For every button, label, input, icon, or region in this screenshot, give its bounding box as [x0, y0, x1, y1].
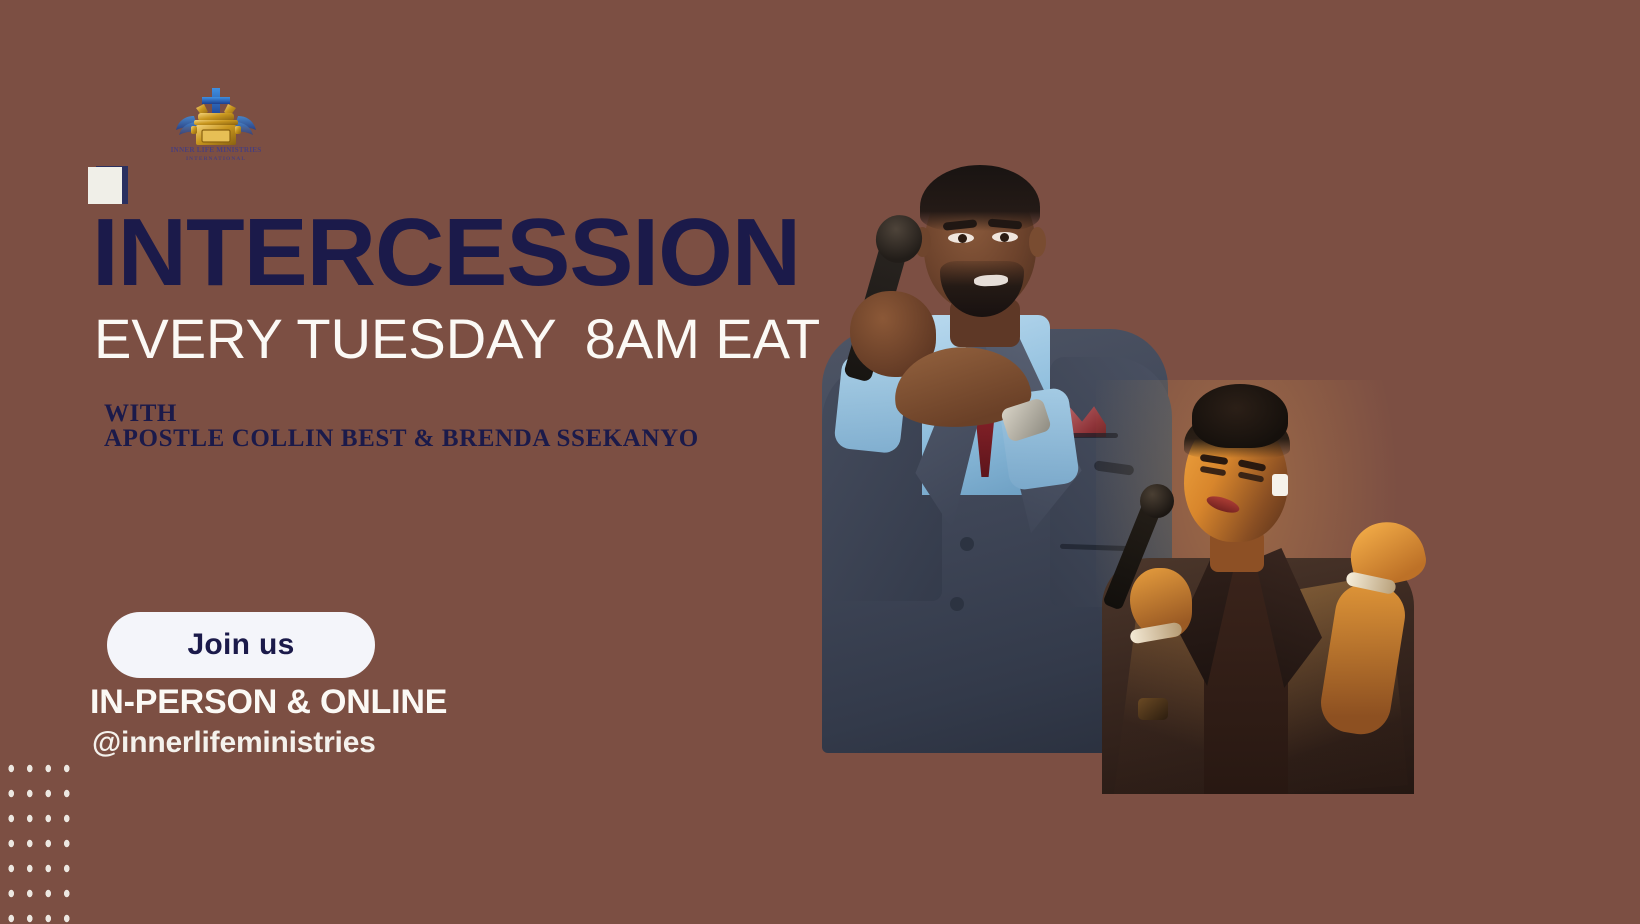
page-title: INTERCESSION	[92, 205, 800, 301]
suit-button-upper	[960, 537, 974, 551]
photo-collage	[740, 0, 1640, 924]
schedule-day: EVERY TUESDAY	[94, 307, 557, 370]
dot-grid-decoration	[0, 752, 76, 924]
hair-bun	[1192, 384, 1288, 448]
microphone-head	[1140, 484, 1174, 518]
logo-name-text: INNER LIFE MINISTRIES	[166, 146, 266, 154]
eye-left	[948, 233, 974, 243]
schedule-line: EVERY TUESDAY8AM EAT	[94, 311, 820, 367]
logo-subtitle-text: INTERNATIONAL	[166, 156, 266, 162]
photo-brenda-ssekanyo	[1096, 380, 1420, 794]
social-handle: @innerlifeministries	[92, 726, 376, 760]
suit-button-lower	[950, 597, 964, 611]
eye-right	[992, 232, 1018, 242]
wristwatch	[1138, 698, 1168, 720]
speaker-names: APOSTLE COLLIN BEST & BRENDA SSEKANYO	[104, 425, 699, 453]
intercession-poster: INNER LIFE MINISTRIES INTERNATIONAL INTE…	[0, 0, 1640, 924]
hair	[920, 165, 1040, 231]
join-us-button[interactable]: Join us	[107, 612, 375, 678]
attendance-mode-text: IN-PERSON & ONLINE	[90, 683, 447, 722]
ear-right	[1029, 227, 1046, 257]
with-label: WITH	[104, 400, 177, 428]
ark-cross-logo-icon	[174, 86, 258, 148]
earring	[1272, 474, 1288, 496]
ministry-logo: INNER LIFE MINISTRIES INTERNATIONAL	[166, 86, 266, 170]
